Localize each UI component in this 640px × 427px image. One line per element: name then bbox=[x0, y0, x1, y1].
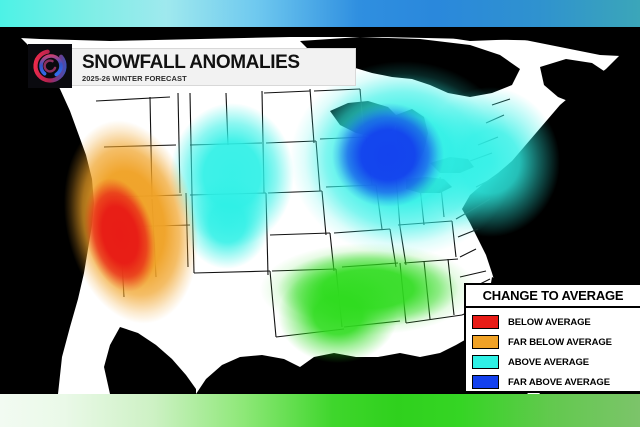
legend: CHANGE TO AVERAGE BELOW AVERAGE FAR BELO… bbox=[464, 283, 640, 393]
legend-swatch-above-average bbox=[472, 355, 499, 369]
legend-item-far-above-average: FAR ABOVE AVERAGE bbox=[472, 372, 640, 392]
legend-swatch-below-average bbox=[472, 315, 499, 329]
legend-label-far-below-average: FAR BELOW AVERAGE bbox=[508, 337, 612, 348]
page-subtitle: 2025-26 WINTER FORECAST bbox=[82, 74, 355, 84]
legend-item-below-average: BELOW AVERAGE bbox=[472, 312, 640, 332]
legend-label-below-average: BELOW AVERAGE bbox=[508, 317, 591, 328]
title-plate: SNOWFALL ANOMALIES 2025-26 WINTER FORECA… bbox=[70, 48, 356, 86]
legend-label-above-average: ABOVE AVERAGE bbox=[508, 357, 589, 368]
bottom-gradient-band bbox=[0, 394, 640, 427]
weather-graphic: SNOWFALL ANOMALIES 2025-26 WINTER FORECA… bbox=[0, 0, 640, 427]
legend-item-far-below-average: FAR BELOW AVERAGE bbox=[472, 332, 640, 352]
spiral-logo-icon bbox=[28, 44, 72, 88]
legend-swatch-far-above-average bbox=[472, 375, 499, 389]
legend-label-far-above-average: FAR ABOVE AVERAGE bbox=[508, 377, 610, 388]
top-gradient-band bbox=[0, 0, 640, 27]
legend-heading: CHANGE TO AVERAGE bbox=[466, 285, 640, 308]
legend-item-above-average: ABOVE AVERAGE bbox=[472, 352, 640, 372]
page-title: SNOWFALL ANOMALIES bbox=[82, 53, 355, 73]
legend-rows: BELOW AVERAGE FAR BELOW AVERAGE ABOVE AV… bbox=[466, 308, 640, 392]
legend-swatch-far-below-average bbox=[472, 335, 499, 349]
